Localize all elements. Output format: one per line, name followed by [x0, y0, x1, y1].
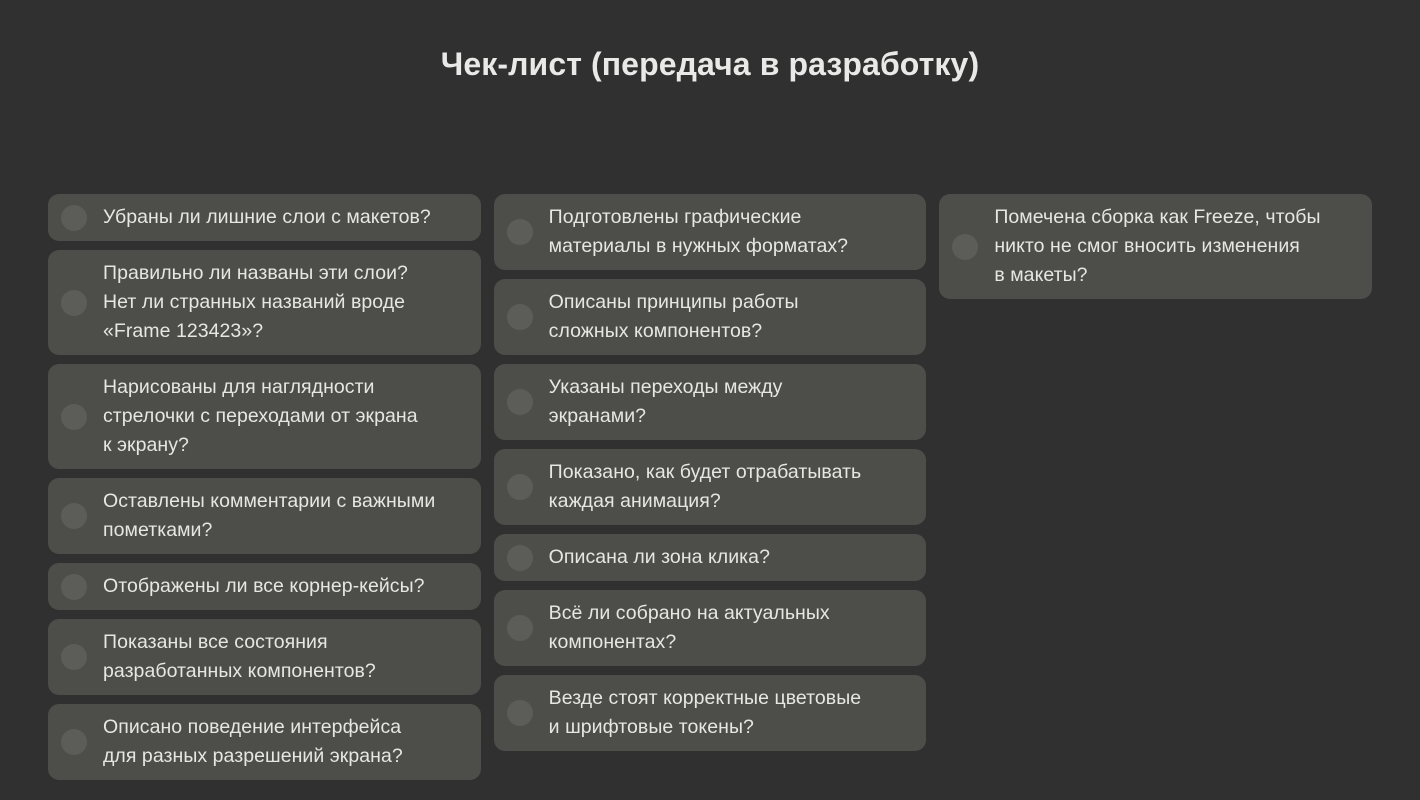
checklist-item[interactable]: Описаны принципы работы сложных компонен… — [494, 279, 927, 355]
checkbox-circle-icon[interactable] — [61, 503, 87, 529]
checkbox-circle-icon[interactable] — [507, 615, 533, 641]
checkbox-circle-icon[interactable] — [507, 304, 533, 330]
checklist-item-label: Подготовлены графические материалы в нуж… — [549, 203, 911, 261]
checkbox-circle-icon[interactable] — [61, 404, 87, 430]
checkbox-circle-icon[interactable] — [61, 574, 87, 600]
checklist-item-label: Убраны ли лишние слои с макетов? — [103, 203, 465, 232]
checklist-slide: Чек-лист (передача в разработку) Убраны … — [0, 0, 1420, 800]
checklist-item[interactable]: Описано поведение интерфейса для разных … — [48, 704, 481, 780]
checklist-item[interactable]: Убраны ли лишние слои с макетов? — [48, 194, 481, 241]
checklist-item-label: Всё ли собрано на актуальных компонентах… — [549, 599, 911, 657]
checklist-item[interactable]: Помечена сборка как Freeze, чтобы никто … — [939, 194, 1372, 299]
checklist-item[interactable]: Подготовлены графические материалы в нуж… — [494, 194, 927, 270]
checklist-item-label: Описаны принципы работы сложных компонен… — [549, 288, 911, 346]
checklist-item[interactable]: Показаны все состояния разработанных ком… — [48, 619, 481, 695]
checkbox-circle-icon[interactable] — [61, 644, 87, 670]
checklist-item-label: Помечена сборка как Freeze, чтобы никто … — [994, 203, 1356, 290]
checklist-item[interactable]: Нарисованы для наглядности стрелочки с п… — [48, 364, 481, 469]
column-3: Помечена сборка как Freeze, чтобы никто … — [939, 194, 1372, 299]
checkbox-circle-icon[interactable] — [507, 474, 533, 500]
checklist-item-label: Отображены ли все корнер-кейсы? — [103, 572, 465, 601]
checkbox-circle-icon[interactable] — [507, 545, 533, 571]
checklist-item[interactable]: Описана ли зона клика? — [494, 534, 927, 581]
checklist-item-label: Везде стоят корректные цветовые и шрифто… — [549, 684, 911, 742]
checkbox-circle-icon[interactable] — [952, 234, 978, 260]
checkbox-circle-icon[interactable] — [61, 729, 87, 755]
checklist-item-label: Показано, как будет отрабатывать каждая … — [549, 458, 911, 516]
checklist-item[interactable]: Оставлены комментарии с важными пометкам… — [48, 478, 481, 554]
checkbox-circle-icon[interactable] — [507, 700, 533, 726]
checkbox-circle-icon[interactable] — [507, 389, 533, 415]
checklist-item[interactable]: Указаны переходы между экранами? — [494, 364, 927, 440]
checklist-item-label: Нарисованы для наглядности стрелочки с п… — [103, 373, 465, 460]
checklist-item-label: Оставлены комментарии с важными пометкам… — [103, 487, 465, 545]
column-2: Подготовлены графические материалы в нуж… — [494, 194, 927, 751]
checklist-item-label: Указаны переходы между экранами? — [549, 373, 911, 431]
checklist-item-label: Описана ли зона клика? — [549, 543, 911, 572]
checklist-item-label: Правильно ли названы эти слои? Нет ли ст… — [103, 259, 465, 346]
checklist-columns: Убраны ли лишние слои с макетов?Правильн… — [48, 194, 1372, 780]
checkbox-circle-icon[interactable] — [61, 205, 87, 231]
checkbox-circle-icon[interactable] — [507, 219, 533, 245]
page-title: Чек-лист (передача в разработку) — [0, 44, 1420, 84]
column-1: Убраны ли лишние слои с макетов?Правильн… — [48, 194, 481, 780]
checklist-item[interactable]: Правильно ли названы эти слои? Нет ли ст… — [48, 250, 481, 355]
checkbox-circle-icon[interactable] — [61, 290, 87, 316]
checklist-item[interactable]: Показано, как будет отрабатывать каждая … — [494, 449, 927, 525]
checklist-item[interactable]: Везде стоят корректные цветовые и шрифто… — [494, 675, 927, 751]
checklist-item[interactable]: Всё ли собрано на актуальных компонентах… — [494, 590, 927, 666]
checklist-item-label: Показаны все состояния разработанных ком… — [103, 628, 465, 686]
checklist-item[interactable]: Отображены ли все корнер-кейсы? — [48, 563, 481, 610]
checklist-item-label: Описано поведение интерфейса для разных … — [103, 713, 465, 771]
